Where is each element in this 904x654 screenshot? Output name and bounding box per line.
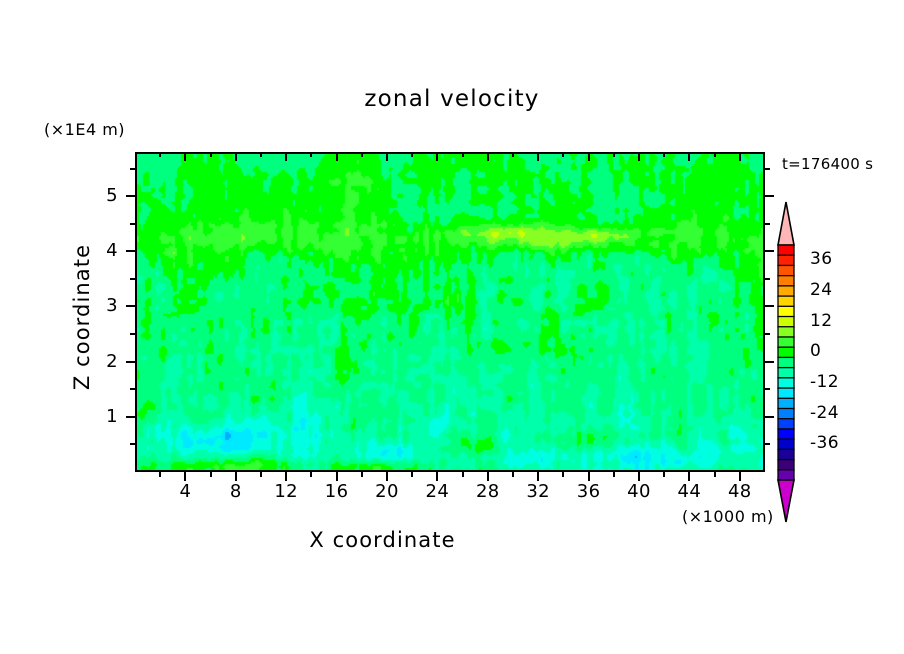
colorbar-segment	[778, 429, 794, 440]
x-tick-minor-top	[310, 152, 312, 157]
x-tick-minor	[210, 472, 212, 477]
x-axis-title: X coordinate	[0, 528, 765, 552]
colorbar-segment	[778, 419, 794, 430]
x-tick-major-top	[739, 152, 741, 161]
x-tick-minor-top	[663, 152, 665, 157]
colorbar-segment	[778, 449, 794, 460]
x-tick-minor-top	[260, 152, 262, 157]
colorbar-segment	[778, 245, 794, 256]
contour-field-canvas	[137, 154, 763, 470]
x-tick-minor	[562, 472, 564, 477]
y-tick-label: 2	[88, 351, 118, 372]
colorbar-tick-label: 0	[810, 341, 870, 361]
colorbar-segment	[778, 347, 794, 358]
y-tick-major-right	[765, 195, 774, 197]
x-tick-major-top	[537, 152, 539, 161]
x-tick-major-top	[487, 152, 489, 161]
x-tick-major-top	[386, 152, 388, 161]
y-tick-minor	[130, 168, 135, 170]
colorbar-segment	[778, 286, 794, 297]
y-tick-minor	[130, 278, 135, 280]
x-tick-minor	[714, 472, 716, 477]
x-tick-minor	[361, 472, 363, 477]
x-axis-unit-label: (×1000 m)	[682, 507, 774, 526]
y-tick-minor	[130, 388, 135, 390]
x-tick-minor	[512, 472, 514, 477]
colorbar-tick-label: -24	[810, 403, 870, 423]
x-tick-minor-top	[361, 152, 363, 157]
x-tick-major	[688, 472, 690, 481]
colorbar-tick-label: -36	[810, 433, 870, 453]
x-tick-minor	[310, 472, 312, 477]
y-tick-minor	[130, 223, 135, 225]
x-tick-major	[285, 472, 287, 481]
x-tick-major-top	[588, 152, 590, 161]
y-axis-unit-label: (×1E4 m)	[44, 120, 125, 139]
colorbar-segment	[778, 439, 794, 450]
x-tick-minor-top	[159, 152, 161, 157]
x-tick-minor	[260, 472, 262, 477]
colorbar-segment	[778, 408, 794, 419]
x-tick-minor-top	[512, 152, 514, 157]
x-tick-major	[336, 472, 338, 481]
x-tick-minor-top	[411, 152, 413, 157]
y-tick-major	[126, 195, 135, 197]
x-tick-major	[638, 472, 640, 481]
page-title: zonal velocity	[0, 86, 904, 112]
y-tick-major	[126, 305, 135, 307]
x-tick-major-top	[336, 152, 338, 161]
colorbar-segment	[778, 388, 794, 399]
x-tick-major	[386, 472, 388, 481]
colorbar	[770, 200, 810, 525]
x-tick-minor	[613, 472, 615, 477]
x-tick-major	[537, 472, 539, 481]
colorbar-over-arrow	[778, 202, 794, 245]
time-stamp-label: t=176400 s	[782, 155, 873, 173]
colorbar-tick-label: 36	[810, 249, 870, 269]
x-tick-major-top	[285, 152, 287, 161]
x-tick-major	[436, 472, 438, 481]
x-tick-minor-top	[562, 152, 564, 157]
colorbar-segment	[778, 327, 794, 338]
colorbar-tick-label: -12	[810, 372, 870, 392]
x-tick-major-top	[235, 152, 237, 161]
y-tick-label: 4	[88, 240, 118, 261]
colorbar-svg	[770, 200, 810, 525]
y-tick-major	[126, 416, 135, 418]
y-tick-label: 1	[88, 406, 118, 427]
y-tick-minor	[130, 443, 135, 445]
x-tick-major	[184, 472, 186, 481]
colorbar-segment	[778, 378, 794, 389]
x-tick-label: 48	[710, 481, 770, 502]
colorbar-segment	[778, 470, 794, 481]
x-tick-major-top	[184, 152, 186, 161]
x-tick-major	[739, 472, 741, 481]
colorbar-under-arrow	[778, 480, 794, 522]
colorbar-segment	[778, 460, 794, 471]
colorbar-segment	[778, 296, 794, 307]
colorbar-segment	[778, 265, 794, 276]
y-tick-label: 5	[88, 185, 118, 206]
colorbar-segment	[778, 306, 794, 317]
x-tick-major-top	[638, 152, 640, 161]
y-tick-minor-right	[765, 168, 770, 170]
colorbar-segment	[778, 255, 794, 266]
colorbar-segment	[778, 317, 794, 328]
x-tick-major-top	[688, 152, 690, 161]
y-tick-major	[126, 250, 135, 252]
y-tick-label: 3	[88, 295, 118, 316]
colorbar-segment	[778, 357, 794, 368]
x-tick-minor-top	[714, 152, 716, 157]
colorbar-segment	[778, 276, 794, 287]
x-tick-minor	[159, 472, 161, 477]
x-tick-minor-top	[210, 152, 212, 157]
x-tick-minor-top	[462, 152, 464, 157]
x-tick-minor-top	[613, 152, 615, 157]
y-axis-title: Z coordinate	[70, 197, 94, 437]
x-tick-minor	[663, 472, 665, 477]
x-tick-minor	[462, 472, 464, 477]
y-tick-minor	[130, 333, 135, 335]
colorbar-segment	[778, 337, 794, 348]
contour-plot-area	[135, 152, 765, 472]
x-tick-major	[235, 472, 237, 481]
y-tick-major	[126, 361, 135, 363]
colorbar-tick-label: 24	[810, 280, 870, 300]
colorbar-segment	[778, 398, 794, 409]
x-tick-major-top	[436, 152, 438, 161]
x-tick-major	[588, 472, 590, 481]
x-tick-major	[487, 472, 489, 481]
colorbar-tick-label: 12	[810, 311, 870, 331]
x-tick-minor	[411, 472, 413, 477]
colorbar-segment	[778, 368, 794, 379]
